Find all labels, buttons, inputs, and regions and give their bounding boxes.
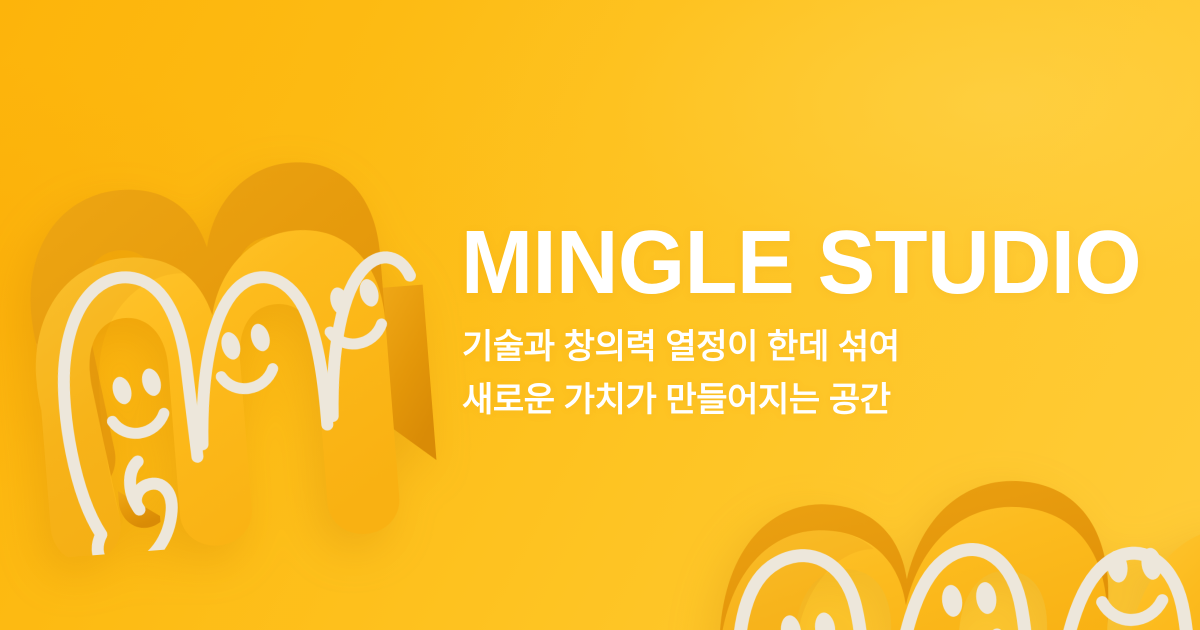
headline-block: MINGLE STUDIO 기술과 창의력 열정이 한데 섞여 새로운 가치가 … <box>461 222 1181 427</box>
tagline-line-1: 기술과 창의력 열정이 한데 섞여 <box>462 321 1181 374</box>
tagline-line-2: 새로운 가치가 만들어지는 공간 <box>462 374 1181 427</box>
brand-title: MINGLE STUDIO <box>461 222 1152 305</box>
promo-banner: MINGLE STUDIO 기술과 창의력 열정이 한데 섞여 새로운 가치가 … <box>0 0 1200 630</box>
brand-tagline: 기술과 창의력 열정이 한데 섞여 새로운 가치가 만들어지는 공간 <box>462 321 1181 427</box>
